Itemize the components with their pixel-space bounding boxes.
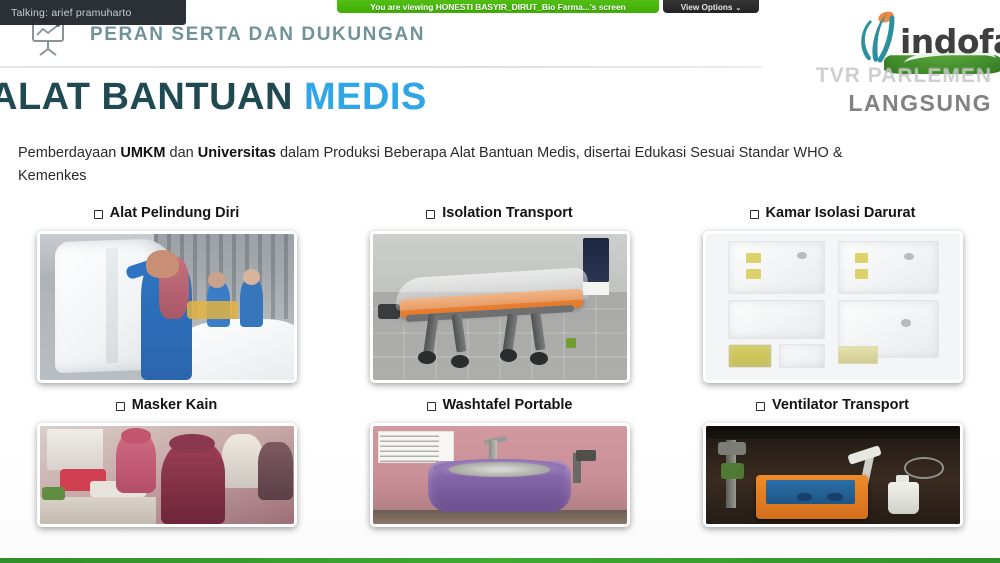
watermark-live: LANGSUNG (848, 90, 992, 117)
grid-item-alat-pelindung-diri: Alat Pelindung Diri (0, 205, 333, 383)
watermark-channel: TVR PARLEMEN (816, 64, 992, 88)
presentation-slide: PERAN SERTA DAN DUKUNGAN ALAT BANTUAN ME… (0, 0, 1000, 563)
talking-indicator: Talking: arief pramuharto (0, 0, 186, 25)
logo-wordmark: indofa (900, 22, 1000, 61)
item-label: Isolation Transport (442, 205, 573, 221)
slide-header-title: PERAN SERTA DAN DUKUNGAN (90, 24, 425, 46)
grid-item-kamar-isolasi-darurat: Kamar Isolasi Darurat (666, 205, 999, 383)
chevron-down-icon: ⌄ (735, 5, 741, 12)
subtitle-mid: dan (165, 145, 197, 161)
item-label-row: Ventilator Transport (756, 397, 909, 413)
item-label-row: Isolation Transport (426, 205, 573, 221)
medical-aid-grid: Alat Pelindung Diri (0, 205, 1000, 527)
item-label-row: Masker Kain (116, 397, 217, 413)
header-divider (0, 66, 762, 68)
grid-row-1: Alat Pelindung Diri (0, 205, 1000, 383)
purple-portable-washstand-photo (370, 423, 630, 527)
emergency-isolation-chamber-collage-photo (703, 231, 963, 383)
square-bullet-icon (94, 210, 103, 219)
cloth-mask-sewing-workshop-photo (37, 423, 297, 527)
slide-subtitle: Pemberdayaan UMKM dan Universitas dalam … (18, 142, 868, 188)
square-bullet-icon (427, 402, 436, 411)
square-bullet-icon (116, 402, 125, 411)
view-options-button[interactable]: View Options ⌄ (663, 0, 759, 13)
orange-isolation-stretcher-photo (370, 231, 630, 383)
page-title-primary: ALAT BANTUAN (0, 76, 304, 118)
subtitle-prefix: Pemberdayaan (18, 145, 120, 161)
grid-item-masker-kain: Masker Kain (0, 397, 333, 527)
bottom-green-bar (0, 558, 1000, 563)
ppe-coverall-factory-photo (37, 231, 297, 383)
item-label: Ventilator Transport (772, 397, 909, 413)
subtitle-bold-universitas: Universitas (198, 145, 276, 161)
page-title-accent: MEDIS (304, 76, 427, 118)
page-title: ALAT BANTUAN MEDIS (0, 76, 427, 119)
subtitle-bold-umkm: UMKM (120, 145, 165, 161)
square-bullet-icon (756, 402, 765, 411)
item-label-row: Washtafel Portable (427, 397, 573, 413)
item-label: Masker Kain (132, 397, 217, 413)
item-label: Kamar Isolasi Darurat (766, 205, 916, 221)
item-label-row: Alat Pelindung Diri (94, 205, 240, 221)
grid-row-2: Masker Kain Washtafel Portable (0, 397, 1000, 527)
view-options-label: View Options (681, 3, 733, 12)
item-label: Alat Pelindung Diri (110, 205, 240, 221)
square-bullet-icon (750, 210, 759, 219)
item-label-row: Kamar Isolasi Darurat (750, 205, 916, 221)
grid-item-isolation-transport: Isolation Transport (333, 205, 666, 383)
grid-item-ventilator-transport: Ventilator Transport (666, 397, 999, 527)
orange-transport-ventilator-photo (703, 423, 963, 527)
square-bullet-icon (426, 210, 435, 219)
item-label: Washtafel Portable (443, 397, 573, 413)
grid-item-washtafel-portable: Washtafel Portable (333, 397, 666, 527)
screen-share-banner: You are viewing HONESTI BASYIR_DIRUT_Bio… (337, 0, 659, 13)
